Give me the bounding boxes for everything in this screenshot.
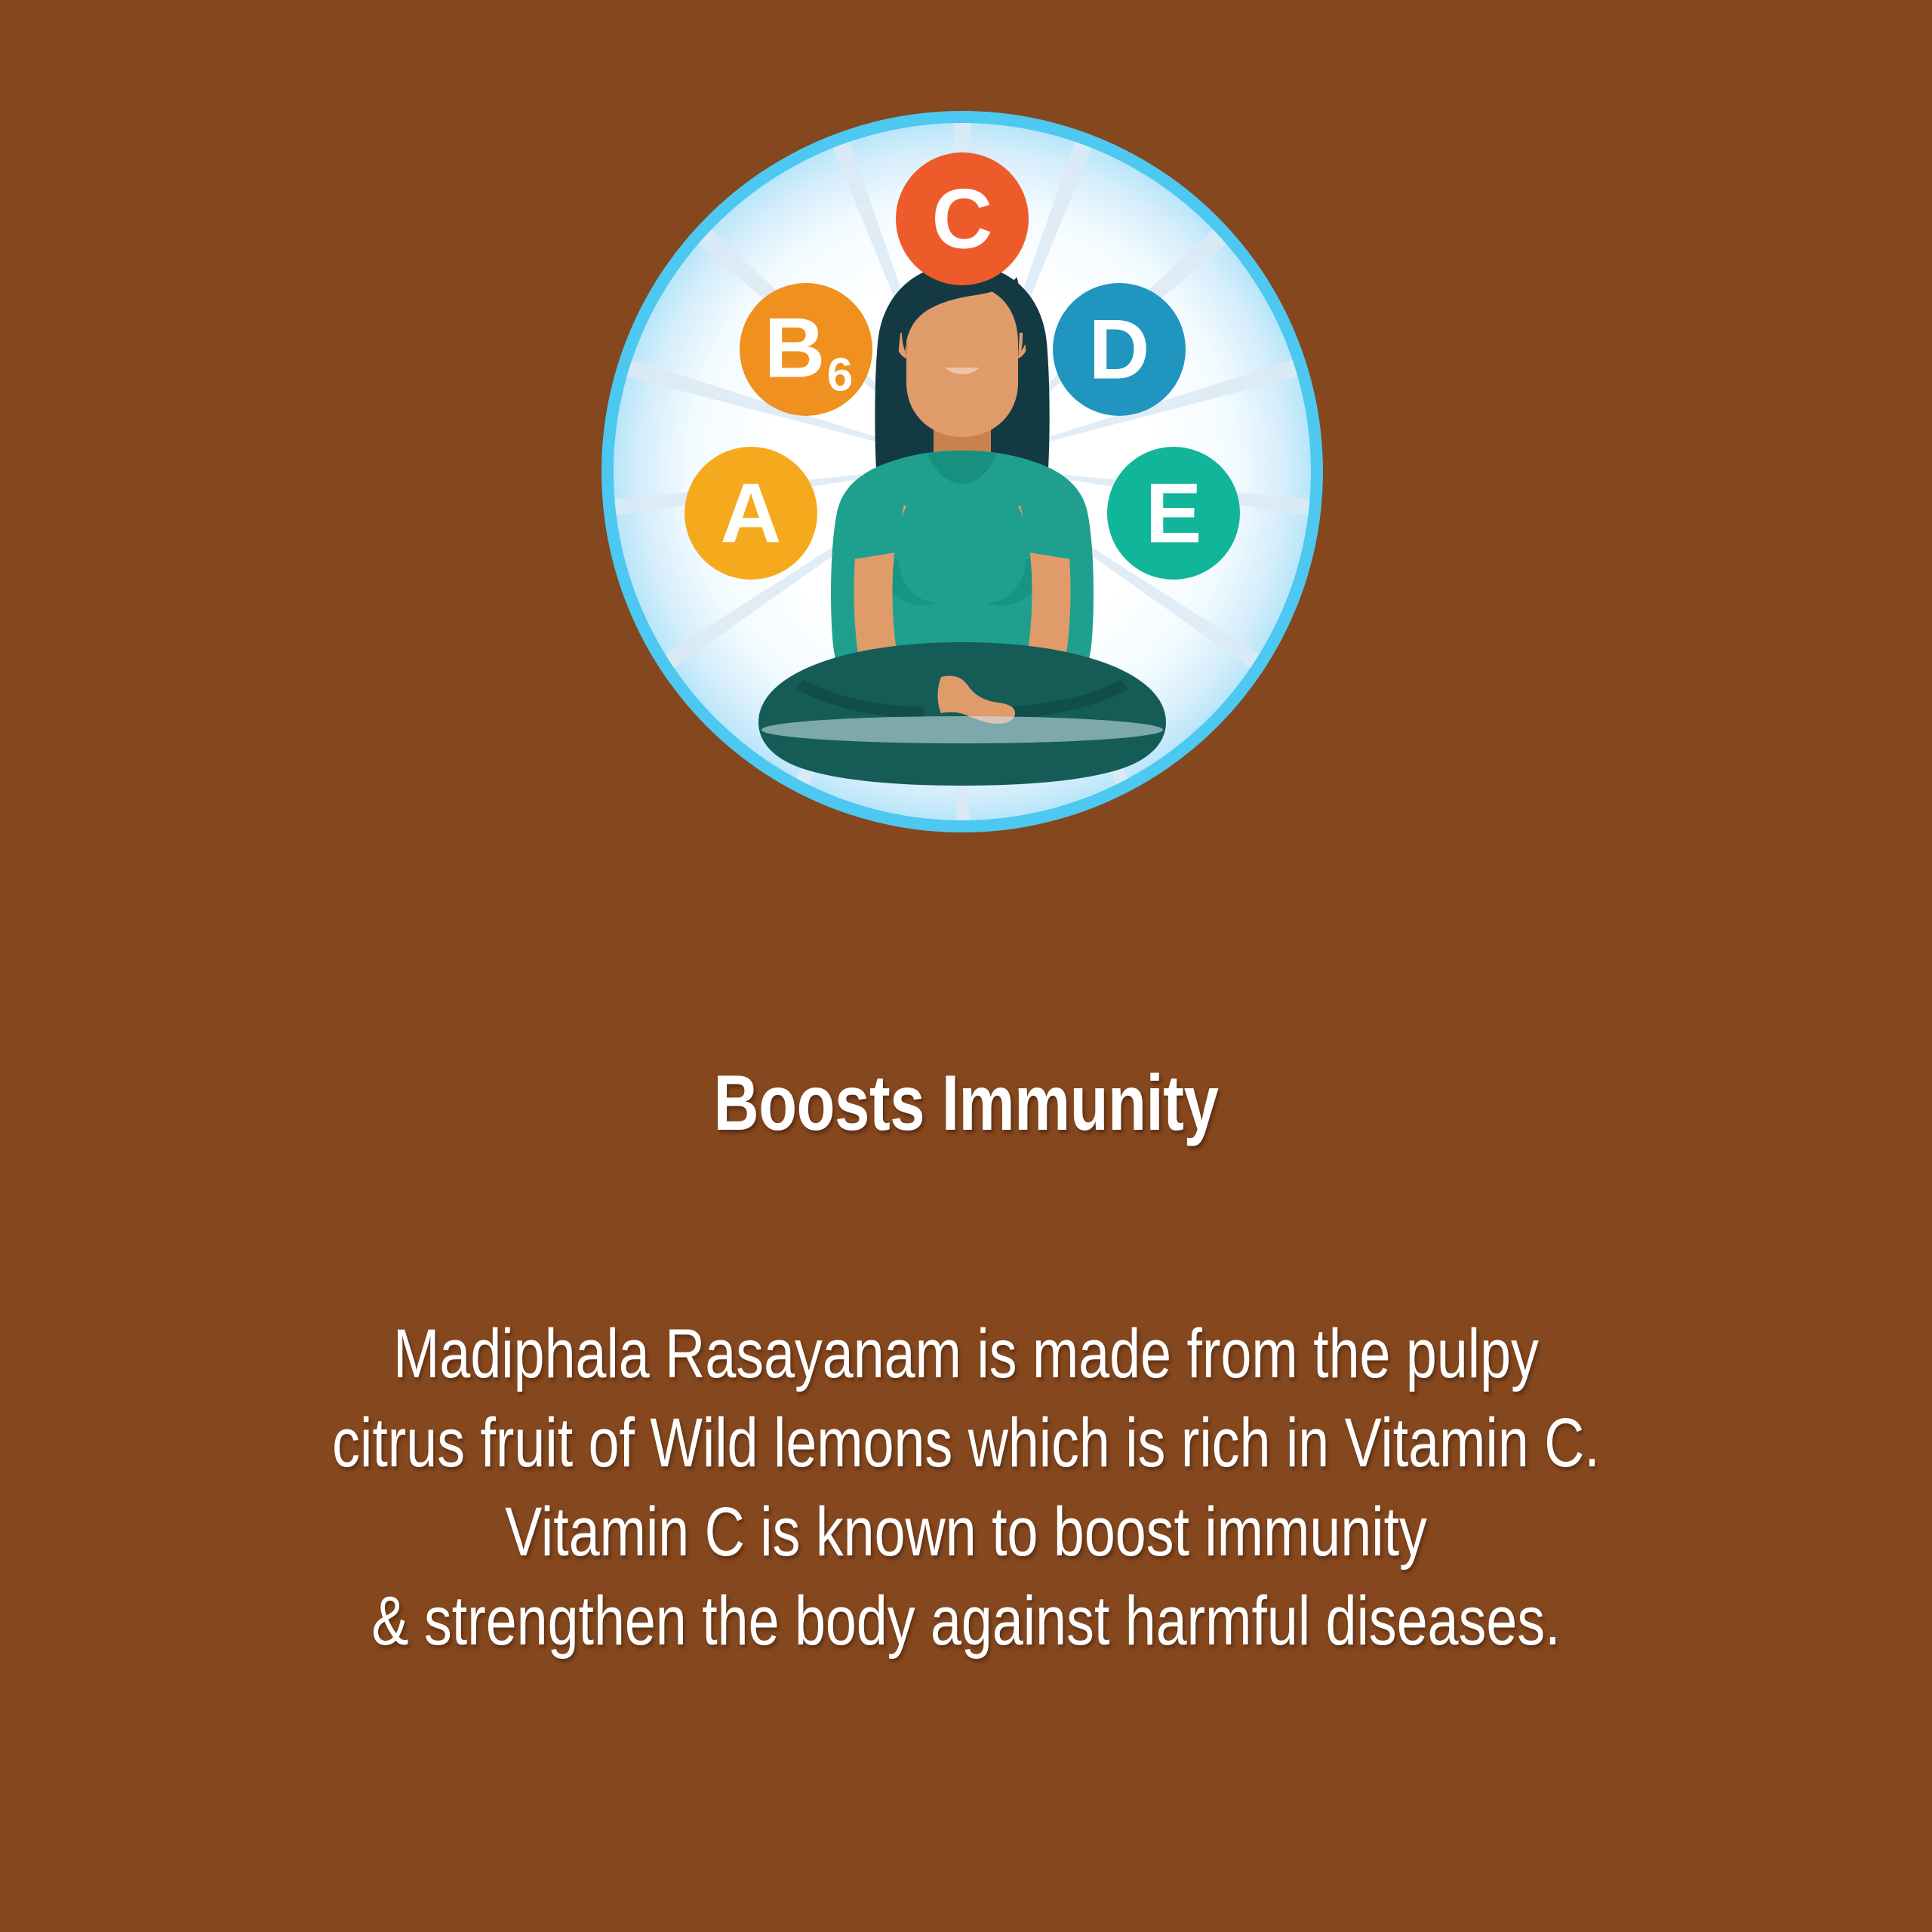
badge-vitamin-a[interactable]: A	[685, 447, 817, 580]
badge-label-c: C	[932, 172, 993, 266]
ground-shadow	[761, 716, 1163, 743]
description-text: Madiphala Rasayanam is made from the pul…	[193, 1309, 1739, 1666]
badge-label-d: D	[1089, 303, 1150, 397]
badge-vitamin-b6[interactable]: B 6	[740, 283, 872, 416]
badge-vitamin-d[interactable]: D	[1053, 283, 1186, 416]
legs-lotus	[758, 642, 1166, 786]
description-line: Vitamin C is known to boost immunity	[193, 1487, 1739, 1577]
badge-label-b: B	[764, 301, 826, 395]
description-line: & strengthen the body against harmful di…	[193, 1577, 1739, 1666]
badge-vitamin-e[interactable]: E	[1107, 447, 1240, 580]
description-line: Madiphala Rasayanam is made from the pul…	[193, 1309, 1739, 1398]
badge-label-a: A	[721, 466, 782, 561]
illustration-container: C B 6 D A E	[600, 109, 1324, 834]
vitamins-illustration: C B 6 D A E	[600, 109, 1324, 834]
badge-label-e: E	[1146, 466, 1202, 561]
badge-vitamin-c[interactable]: C	[896, 152, 1029, 285]
description-line: citrus fruit of Wild lemons which is ric…	[193, 1398, 1739, 1487]
page-title: Boosts Immunity	[193, 1063, 1739, 1145]
badge-label-b-subscript: 6	[827, 349, 853, 401]
product-benefit-card: C B 6 D A E	[0, 0, 1932, 1932]
